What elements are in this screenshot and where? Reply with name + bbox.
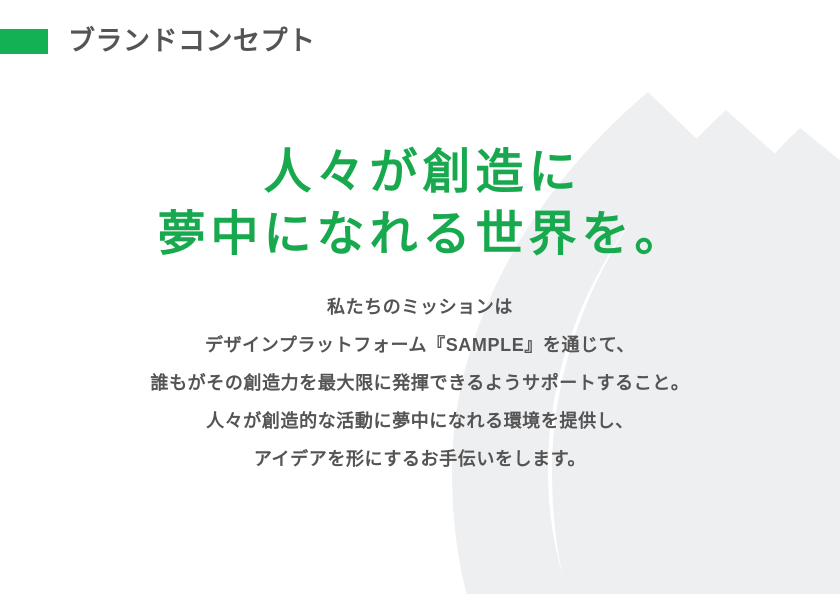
body-line-4: 人々が創造的な活動に夢中になれる環境を提供し、 [0,402,840,440]
body-line-5: アイデアを形にするお手伝いをします。 [0,440,840,478]
header: ブランドコンセプト [0,28,316,54]
header-accent-bar [0,29,48,54]
headline-block: 人々が創造に 夢中になれる世界を。 [0,142,840,266]
page-title: ブランドコンセプト [68,28,316,55]
body-line-3: 誰もがその創造力を最大限に発揮できるようサポートすること。 [0,364,840,402]
body-copy-block: 私たちのミッションは デザインプラットフォーム『SAMPLE』を通じて、 誰もが… [0,288,840,478]
slide-canvas: ブランドコンセプト 人々が創造に 夢中になれる世界を。 私たちのミッションは デ… [0,0,840,594]
body-line-1: 私たちのミッションは [0,288,840,326]
headline-line-2: 夢中になれる世界を。 [0,204,840,266]
body-line-2: デザインプラットフォーム『SAMPLE』を通じて、 [0,326,840,364]
headline-line-1: 人々が創造に [0,142,840,204]
